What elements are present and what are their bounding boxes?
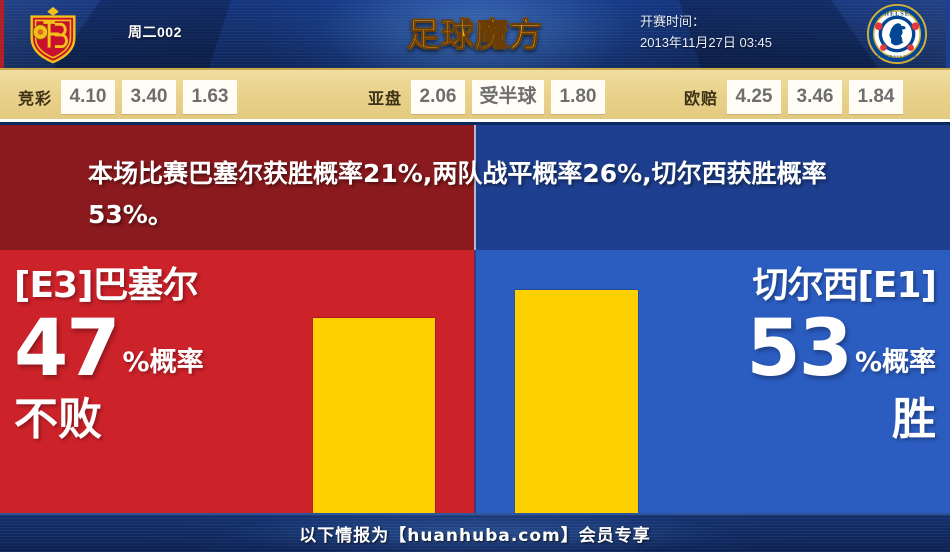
home-probability-bar [313, 318, 435, 513]
odds-label-yapan: 亚盘 [368, 85, 402, 109]
odds-cell-oupei-draw[interactable]: 3.46 [788, 80, 842, 114]
odds-cell-oupei-away[interactable]: 1.84 [849, 80, 903, 114]
odds-cell-oupei-home[interactable]: 4.25 [727, 80, 781, 114]
odds-group-jingcai: 竞彩 4.10 3.40 1.63 [18, 70, 237, 124]
header-bar: 周二002 足球魔方 开赛时间： 2013年11月27日 03:45 CHELS… [0, 0, 950, 68]
odds-cell-yapan-handicap[interactable]: 受半球 [472, 80, 544, 114]
home-probability-unit: %概率 [123, 349, 204, 388]
home-probability-row: 47 %概率 [14, 310, 304, 388]
odds-divider [0, 119, 950, 122]
footer-bar: 以下情报为【huanhuba.com】会员专享 [0, 513, 950, 552]
kickoff-label: 开赛时间： [640, 11, 850, 32]
odds-cell-jingcai-home[interactable]: 4.10 [61, 80, 115, 114]
home-team-block: [E3]巴塞尔 47 %概率 不败 [14, 264, 304, 446]
header-right-edge [946, 0, 950, 68]
site-logo-text: 足球魔方 [407, 8, 543, 56]
panel-divider [474, 250, 476, 513]
away-team-block: 切尔西[E1] 53 %概率 胜 [646, 264, 936, 446]
kickoff-info: 开赛时间： 2013年11月27日 03:45 [640, 11, 850, 53]
kickoff-value: 2013年11月27日 03:45 [640, 32, 850, 53]
match-prediction-graphic: 周二002 足球魔方 开赛时间： 2013年11月27日 03:45 CHELS… [0, 0, 950, 552]
prediction-band: 本场比赛巴塞尔获胜概率21%,两队战平概率26%,切尔西获胜概率53%。 [0, 125, 950, 250]
svg-text:FOOTBALL CLUB: FOOTBALL CLUB [877, 54, 917, 59]
odds-cell-yapan-home[interactable]: 2.06 [411, 80, 465, 114]
odds-label-oupei: 欧赔 [684, 85, 718, 109]
odds-cell-jingcai-away[interactable]: 1.63 [183, 80, 237, 114]
odds-bar: 竞彩 4.10 3.40 1.63 亚盘 2.06 受半球 1.80 欧赔 4.… [0, 68, 950, 122]
basel-crest-icon [22, 3, 84, 65]
match-number: 周二002 [128, 22, 182, 42]
svg-text:CHELSEA: CHELSEA [879, 11, 916, 18]
prediction-text: 本场比赛巴塞尔获胜概率21%,两队战平概率26%,切尔西获胜概率53%。 [88, 153, 878, 235]
footer-notice: 以下情报为【huanhuba.com】会员专享 [0, 521, 950, 546]
odds-cell-jingcai-draw[interactable]: 3.40 [122, 80, 176, 114]
home-team-name: [E3]巴塞尔 [14, 264, 304, 308]
away-probability-value: 53 [746, 310, 851, 388]
header-left-edge [0, 0, 4, 68]
home-verdict: 不败 [14, 394, 304, 446]
odds-cell-yapan-away[interactable]: 1.80 [551, 80, 605, 114]
away-probability-row: 53 %概率 [646, 310, 936, 388]
odds-group-oupei: 欧赔 4.25 3.46 1.84 [684, 70, 903, 124]
probability-panels: [E3]巴塞尔 47 %概率 不败 切尔西[E1] 53 %概率 胜 [0, 250, 950, 513]
away-verdict: 胜 [646, 394, 936, 446]
away-probability-bar [515, 290, 638, 513]
away-team-name: 切尔西[E1] [646, 264, 936, 308]
home-probability-value: 47 [14, 310, 119, 388]
chelsea-crest-icon: CHELSEA FOOTBALL CLUB [866, 3, 928, 65]
odds-group-yapan: 亚盘 2.06 受半球 1.80 [368, 70, 605, 124]
odds-label-jingcai: 竞彩 [18, 85, 52, 109]
away-probability-unit: %概率 [855, 349, 936, 388]
footer-top-line [0, 513, 950, 515]
